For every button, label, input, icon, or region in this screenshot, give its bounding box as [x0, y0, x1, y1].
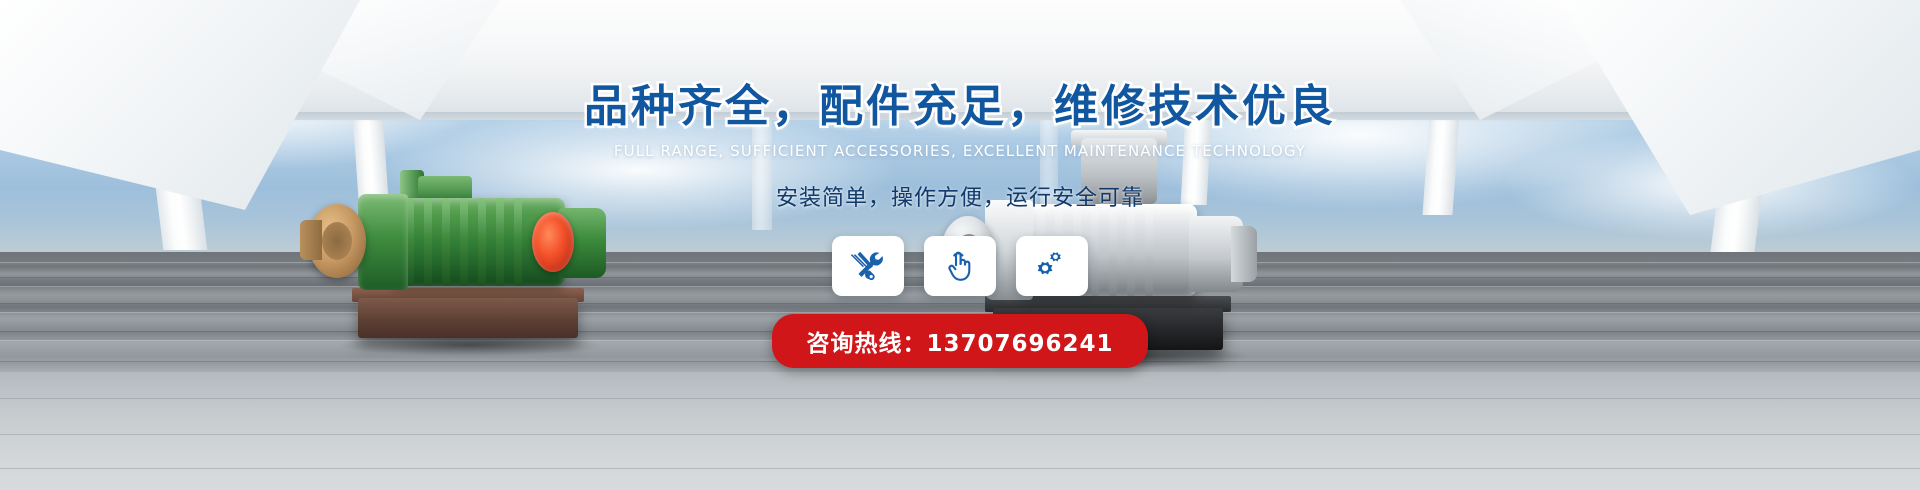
banner-content: 品种齐全，配件充足，维修技术优良 FULL RANGE, SUFFICIENT … — [0, 0, 1920, 490]
banner-subtitle-english: FULL RANGE, SUFFICIENT ACCESSORIES, EXCE… — [614, 142, 1306, 160]
tools-wrench-screwdriver-icon — [851, 249, 885, 283]
gears-settings-icon — [1035, 250, 1069, 282]
product-hero-banner: 品种齐全，配件充足，维修技术优良 FULL RANGE, SUFFICIENT … — [0, 0, 1920, 490]
banner-headline: 品种齐全，配件充足，维修技术优良 — [584, 70, 1336, 134]
feature-icon-row — [832, 236, 1088, 296]
feature-card-easy-operation[interactable] — [924, 236, 996, 296]
feature-card-tools[interactable] — [832, 236, 904, 296]
hand-pointer-click-icon — [944, 249, 976, 283]
banner-subtitle-chinese: 安装简单，操作方便，运行安全可靠 — [776, 180, 1144, 212]
hotline-badge[interactable]: 咨询热线：13707696241 — [772, 314, 1147, 368]
feature-card-parts[interactable] — [1016, 236, 1088, 296]
